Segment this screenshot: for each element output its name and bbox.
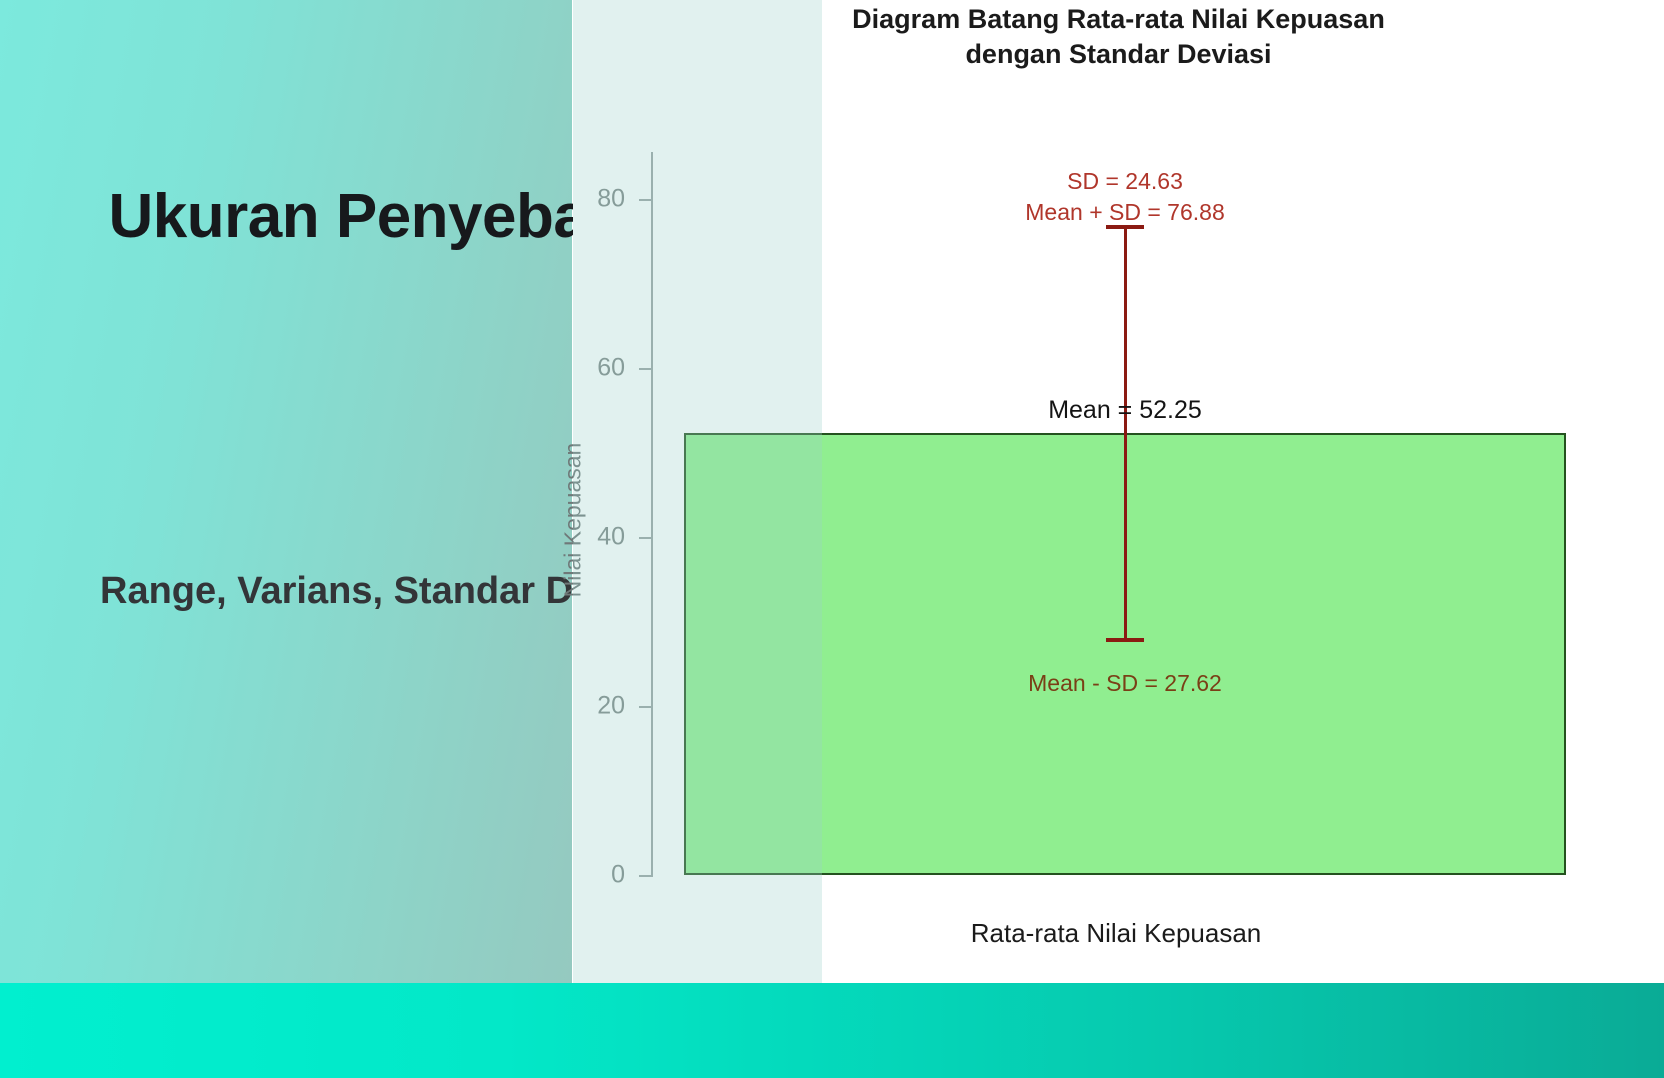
- y-axis-tick-label: 80: [555, 184, 625, 213]
- slide-canvas: Ukuran Penyebaran Data Range, Varians, S…: [0, 0, 1664, 1078]
- y-axis-tick-label: 0: [555, 861, 625, 890]
- y-axis-tick-mark: [639, 368, 653, 370]
- slide-bottom-accent-bar: [0, 983, 1664, 1078]
- y-axis-tick-mark: [639, 537, 653, 539]
- x-axis-title: Rata-rata Nilai Kepuasan: [651, 918, 1581, 949]
- plot-area: 020406080 Nilai Kepuasan SD = 24.63 Mean…: [651, 140, 1581, 900]
- error-bar-line: [1124, 225, 1127, 641]
- slide-left-gradient-panel: [0, 0, 572, 983]
- annotation-mean: Mean = 52.25: [1048, 396, 1202, 425]
- y-axis-tick-label: 20: [555, 691, 625, 720]
- y-axis-tick-label: 60: [555, 353, 625, 382]
- chart-figure: Diagram Batang Rata-rata Nilai Kepuasan …: [573, 0, 1664, 983]
- chart-title-line-2: dengan Standar Deviasi: [573, 37, 1664, 72]
- y-axis-tick-mark: [639, 875, 653, 877]
- annotation-standard-deviation: SD = 24.63 Mean + SD = 76.88: [1025, 166, 1224, 228]
- chart-title-line-1: Diagram Batang Rata-rata Nilai Kepuasan: [573, 2, 1664, 37]
- annotation-mean-plus-sd: Mean + SD = 76.88: [1025, 197, 1224, 228]
- y-axis-tick-mark: [639, 199, 653, 201]
- error-bar-cap-bottom: [1106, 638, 1144, 642]
- y-axis-title: Nilai Kepuasan: [560, 443, 587, 598]
- y-axis-tick-mark: [639, 706, 653, 708]
- annotation-mean-minus-sd: Mean - SD = 27.62: [1028, 670, 1222, 697]
- chart-title: Diagram Batang Rata-rata Nilai Kepuasan …: [573, 0, 1664, 71]
- annotation-sd-value: SD = 24.63: [1025, 166, 1224, 197]
- y-axis-line: [651, 152, 653, 877]
